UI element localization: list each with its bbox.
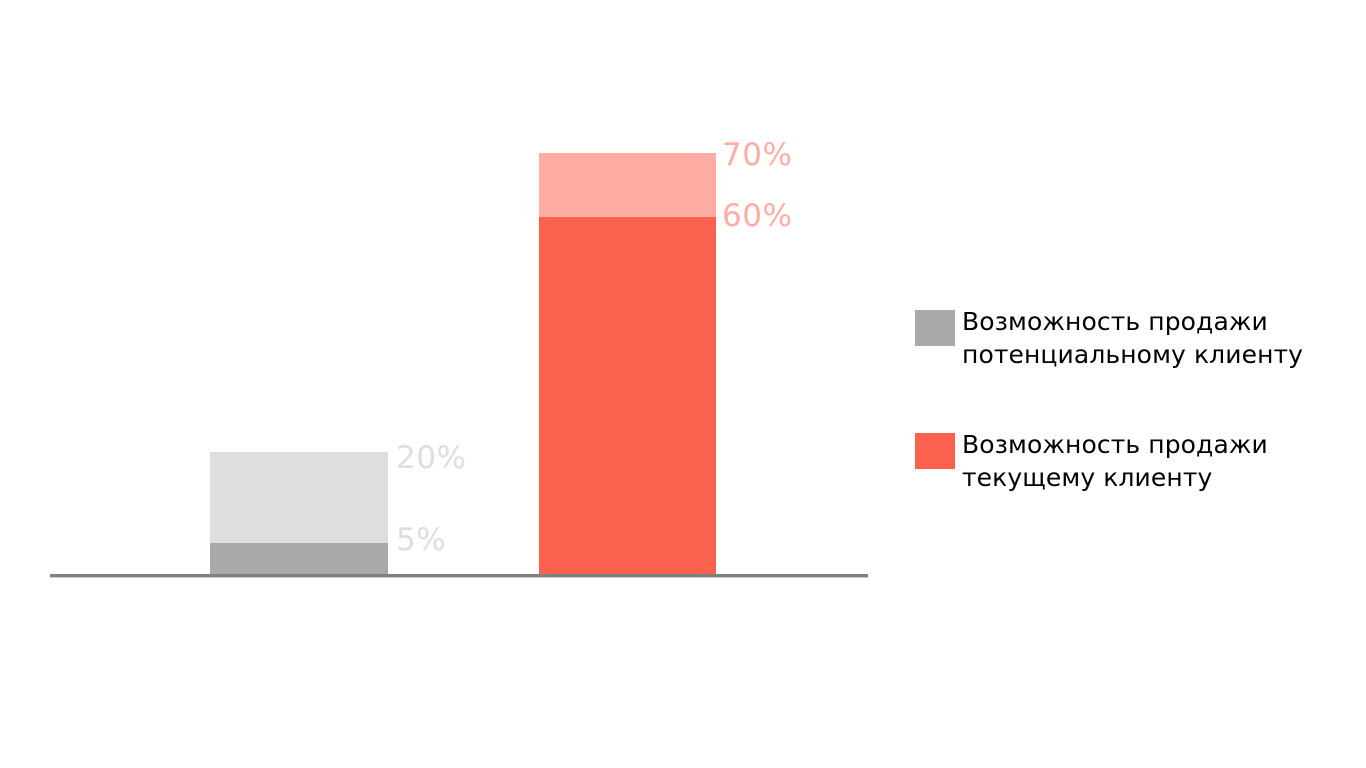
value-label-potential-total: 20% xyxy=(396,443,466,474)
legend-label-potential-client: Возможность продажи потенциальному клиен… xyxy=(962,305,1303,371)
legend-swatch-potential-icon xyxy=(915,310,955,346)
bar-segment-current-total[interactable] xyxy=(539,153,716,217)
legend-label-current-client: Возможность продажи текущему клиенту xyxy=(962,428,1268,494)
bar-segment-potential-base[interactable] xyxy=(210,543,388,575)
legend-swatch-current-icon xyxy=(915,433,955,469)
value-label-current-total: 70% xyxy=(722,140,792,171)
value-label-current-base: 60% xyxy=(722,201,792,232)
bar-current-client[interactable] xyxy=(539,153,716,575)
value-label-potential-base: 5% xyxy=(396,525,446,556)
plot-area: 20% 5% 70% 60% xyxy=(0,0,900,768)
chart-legend: Возможность продажи потенциальному клиен… xyxy=(915,305,1355,494)
axis-baseline xyxy=(50,574,868,578)
legend-item-current-client[interactable]: Возможность продажи текущему клиенту xyxy=(915,428,1355,494)
legend-item-potential-client[interactable]: Возможность продажи потенциальному клиен… xyxy=(915,305,1355,371)
bar-segment-potential-total[interactable] xyxy=(210,452,388,543)
chart-container: 20% 5% 70% 60% Возможность продажи потен… xyxy=(0,0,1366,768)
bar-potential-client[interactable] xyxy=(210,452,388,575)
bar-segment-current-base[interactable] xyxy=(539,217,716,575)
